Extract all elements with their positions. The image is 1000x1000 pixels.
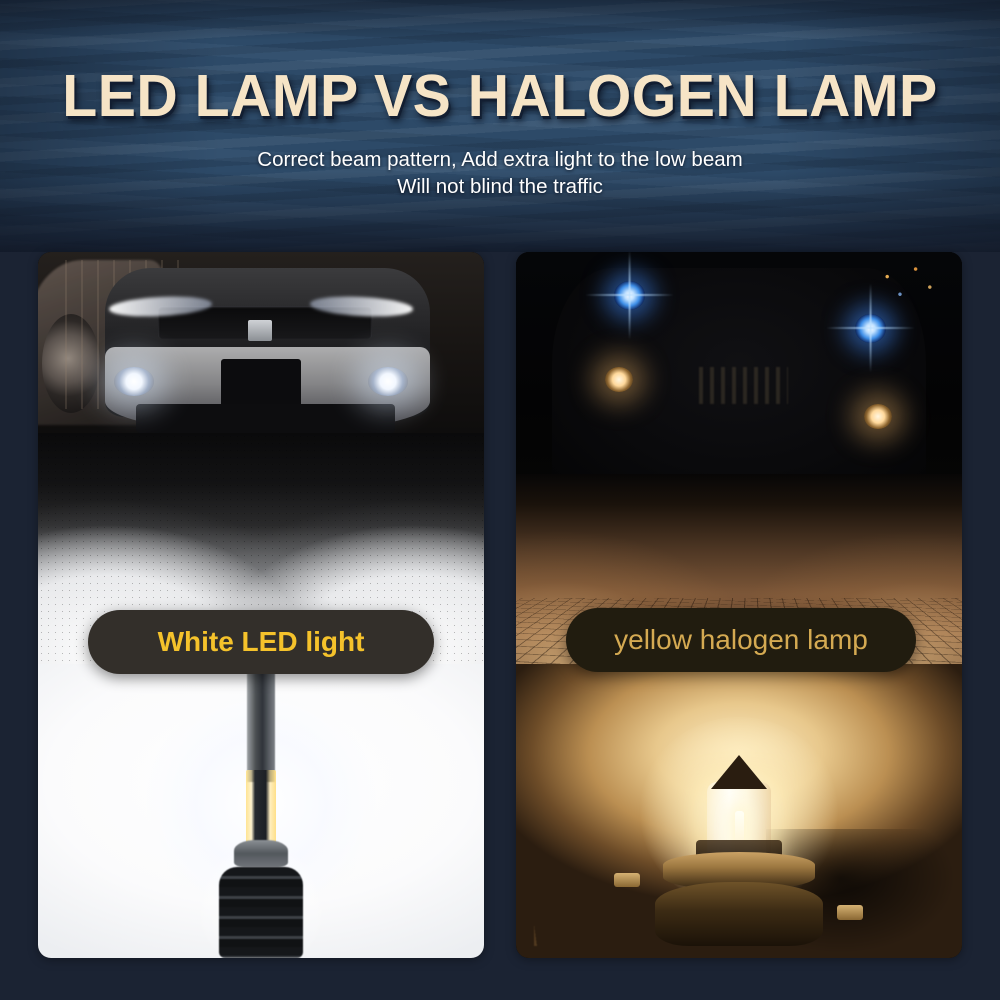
halogen-night-scene: [516, 252, 962, 664]
header-banner: LED LAMP VS HALOGEN LAMP Correct beam pa…: [0, 0, 1000, 252]
grille-text-mark: [699, 367, 788, 404]
subtitle-line-1: Correct beam pattern, Add extra light to…: [257, 148, 742, 171]
led-bulb-neck: [234, 840, 288, 866]
led-bulb-stem: [247, 664, 275, 782]
subtitle-line-2: Will not blind the traffic: [0, 173, 1000, 200]
led-bulb-photo: [38, 664, 484, 958]
halogen-bulb-photo: [516, 664, 962, 958]
halogen-mount-tab-left: [614, 873, 640, 888]
halogen-mount-tab-right: [837, 905, 863, 920]
blue-headlamp-flare-left-vertical: [629, 252, 631, 340]
led-fog-lamp-left: [114, 367, 154, 396]
honda-emblem-icon: [248, 320, 273, 341]
halogen-beam-photo: [516, 252, 962, 664]
comparison-grid: White LED light: [38, 252, 962, 958]
led-bulb-base: [219, 867, 303, 958]
halogen-fog-lamp-left: [605, 367, 633, 392]
halogen-fog-lamp-right: [864, 404, 892, 429]
status-badge-white-led: White LED light: [88, 610, 434, 674]
status-badge-yellow-halogen: yellow halogen lamp: [566, 608, 916, 672]
page-title: LED LAMP VS HALOGEN LAMP: [15, 62, 985, 130]
led-beam-photo: [38, 252, 484, 664]
license-plate: [221, 359, 301, 408]
led-night-scene: [38, 252, 484, 664]
comparison-card-halogen[interactable]: yellow halogen lamp: [516, 252, 962, 958]
distant-lights: [873, 264, 944, 305]
halogen-bulb-tip: [711, 755, 767, 789]
poster-root: LED LAMP VS HALOGEN LAMP Correct beam pa…: [0, 0, 1000, 1000]
blue-headlamp-flare-right-vertical: [870, 283, 872, 372]
comparison-card-led[interactable]: White LED light: [38, 252, 484, 958]
halogen-wiring: [534, 887, 712, 946]
civic-air-dam: [136, 404, 395, 433]
page-subtitle: Correct beam pattern, Add extra light to…: [0, 146, 1000, 200]
led-chip-array: [246, 770, 276, 846]
